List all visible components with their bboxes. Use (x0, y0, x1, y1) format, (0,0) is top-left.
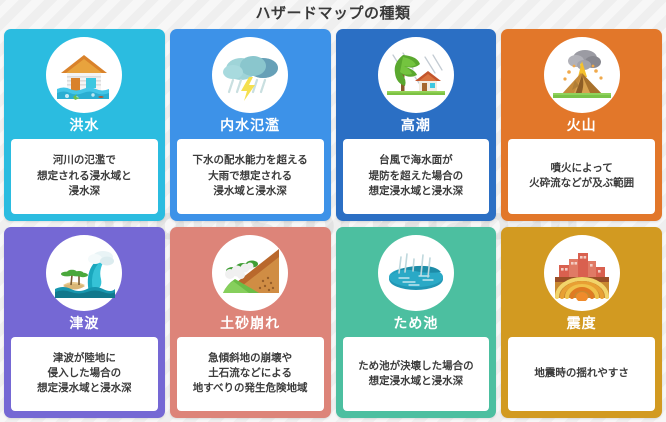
icon-badge (46, 37, 122, 113)
hazard-card-reservoir-pond[interactable]: ため池 ため池が決壊した場合の 想定浸水域と浸水深 (336, 227, 497, 419)
erupting-volcano-icon (551, 47, 613, 103)
icon-badge (378, 37, 454, 113)
card-description-panel: ため池が決壊した場合の 想定浸水域と浸水深 (343, 337, 490, 412)
card-title: ため池 (393, 317, 438, 331)
icon-badge (212, 235, 288, 311)
card-description: 急傾斜地の崩壊や 土石流などによる 地すべりの発生危険地域 (193, 351, 308, 397)
hazard-card-grid: 洪水 河川の氾濫で 想定される浸水域と 浸水深 (0, 27, 666, 422)
page-title: ハザードマップの種類 (0, 0, 666, 27)
hazard-card-volcano[interactable]: 火山 噴火によって 火砕流などが及ぶ範囲 (501, 29, 662, 221)
card-title: 内水氾濫 (220, 119, 280, 133)
card-title: 高潮 (401, 119, 431, 133)
tsunami-wave-island-icon (53, 245, 115, 301)
shaking-buildings-icon (551, 245, 613, 301)
card-description: 地震時の揺れやすさ (534, 366, 629, 381)
card-description: 下水の配水能力を超える 大雨で想定される 浸水域と浸水深 (193, 153, 308, 199)
card-title: 火山 (567, 119, 597, 133)
icon-badge (544, 37, 620, 113)
typhoon-wind-house-icon (385, 47, 447, 103)
card-description-panel: 急傾斜地の崩壊や 土石流などによる 地すべりの発生危険地域 (177, 337, 324, 412)
rain-cloud-lightning-icon (219, 47, 281, 103)
card-description-panel: 台風で海水面が 堤防を超えた場合の 想定浸水域と浸水深 (343, 139, 490, 214)
icon-badge (544, 235, 620, 311)
hazard-card-seismic-intensity[interactable]: 震度 地震時の揺れやすさ (501, 227, 662, 419)
icon-badge (378, 235, 454, 311)
card-description: 噴火によって 火砕流などが及ぶ範囲 (529, 161, 634, 191)
card-title: 土砂崩れ (220, 317, 280, 331)
flooded-house-icon (53, 47, 115, 103)
hazard-card-storm-surge[interactable]: 高潮 台風で海水面が 堤防を超えた場合の 想定浸水域と浸水深 (336, 29, 497, 221)
card-description-panel: 噴火によって 火砕流などが及ぶ範囲 (508, 139, 655, 214)
hazard-card-tsunami[interactable]: 津波 津波が陸地に 侵入した場合の 想定浸水域と浸水深 (4, 227, 165, 419)
card-description-panel: 下水の配水能力を超える 大雨で想定される 浸水域と浸水深 (177, 139, 324, 214)
card-description-panel: 河川の氾濫で 想定される浸水域と 浸水深 (11, 139, 158, 214)
card-title: 震度 (567, 317, 597, 331)
landslide-slope-icon (219, 245, 281, 301)
pond-water-icon (385, 245, 447, 301)
hazard-card-inland-flood[interactable]: 内水氾濫 下水の配水能力を超える 大雨で想定される 浸水域と浸水深 (170, 29, 331, 221)
card-description: ため池が決壊した場合の 想定浸水域と浸水深 (358, 359, 474, 389)
card-description: 津波が陸地に 侵入した場合の 想定浸水域と浸水深 (37, 351, 132, 397)
card-title: 津波 (69, 317, 99, 331)
card-description: 河川の氾濫で 想定される浸水域と 浸水深 (37, 153, 132, 199)
card-description-panel: 地震時の揺れやすさ (508, 337, 655, 412)
card-description-panel: 津波が陸地に 侵入した場合の 想定浸水域と浸水深 (11, 337, 158, 412)
hazard-card-landslide[interactable]: 土砂崩れ 急傾斜地の崩壊や 土石流などによる 地すべりの発生危険地域 (170, 227, 331, 419)
hazard-card-flood[interactable]: 洪水 河川の氾濫で 想定される浸水域と 浸水深 (4, 29, 165, 221)
icon-badge (46, 235, 122, 311)
card-title: 洪水 (69, 119, 99, 133)
card-description: 台風で海水面が 堤防を超えた場合の 想定浸水域と浸水深 (369, 153, 464, 199)
icon-badge (212, 37, 288, 113)
